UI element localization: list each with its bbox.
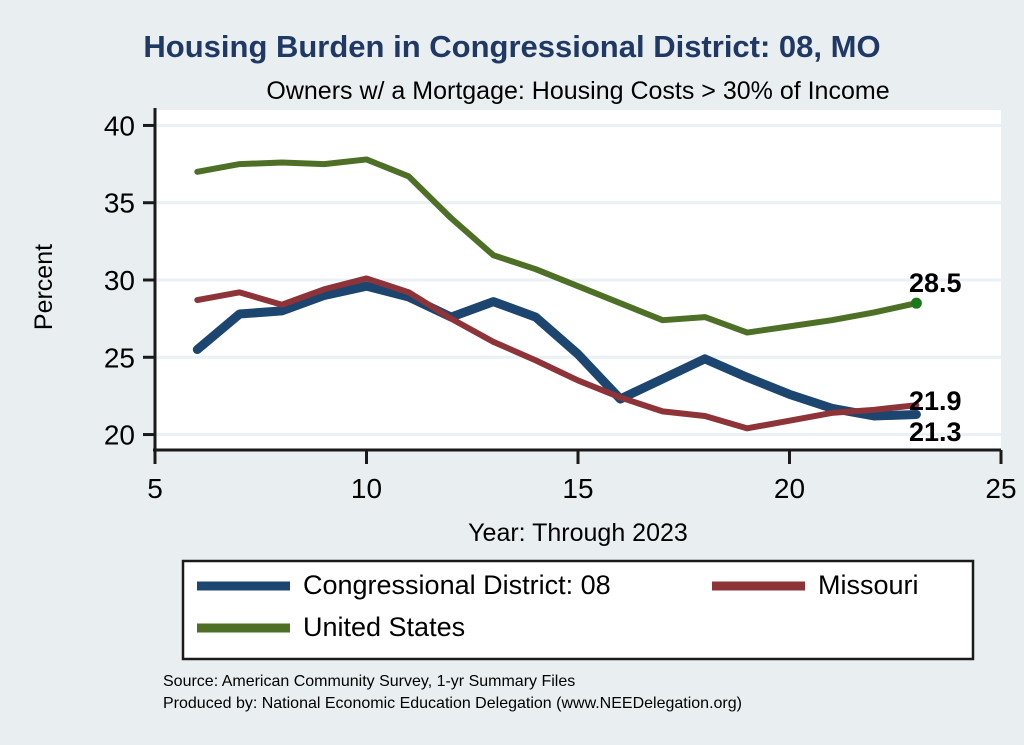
end-label-0: 21.3 (909, 417, 962, 447)
y-tick-label: 20 (104, 420, 135, 451)
housing-burden-line-chart: Housing Burden in Congressional District… (0, 0, 1024, 745)
x-tick-label: 10 (351, 473, 382, 504)
y-tick-label: 25 (104, 342, 135, 373)
y-tick-label: 35 (104, 188, 135, 219)
chart-title: Housing Burden in Congressional District… (143, 29, 880, 64)
y-axis-title: Percent (30, 244, 58, 330)
legend-label-1: Missouri (818, 570, 919, 600)
legend-label-2: United States (303, 612, 465, 642)
x-tick-label: 15 (562, 473, 593, 504)
x-tick-label: 25 (985, 473, 1016, 504)
y-tick-label: 40 (104, 110, 135, 141)
legend-label-0: Congressional District: 08 (303, 570, 611, 600)
end-label-2: 28.5 (909, 268, 962, 298)
y-tick-label: 30 (104, 265, 135, 296)
chart-figure: Housing Burden in Congressional District… (0, 0, 1024, 745)
x-tick-label: 20 (774, 473, 805, 504)
end-label-1: 21.9 (909, 386, 962, 416)
produced-by-note: Produced by: National Economic Education… (163, 695, 742, 712)
series-endpoint-marker (911, 298, 922, 309)
x-axis-title: Year: Through 2023 (468, 519, 688, 547)
chart-subtitle: Owners w/ a Mortgage: Housing Costs > 30… (266, 77, 889, 105)
x-tick-label: 5 (147, 473, 163, 504)
source-note: Source: American Community Survey, 1-yr … (163, 673, 575, 690)
